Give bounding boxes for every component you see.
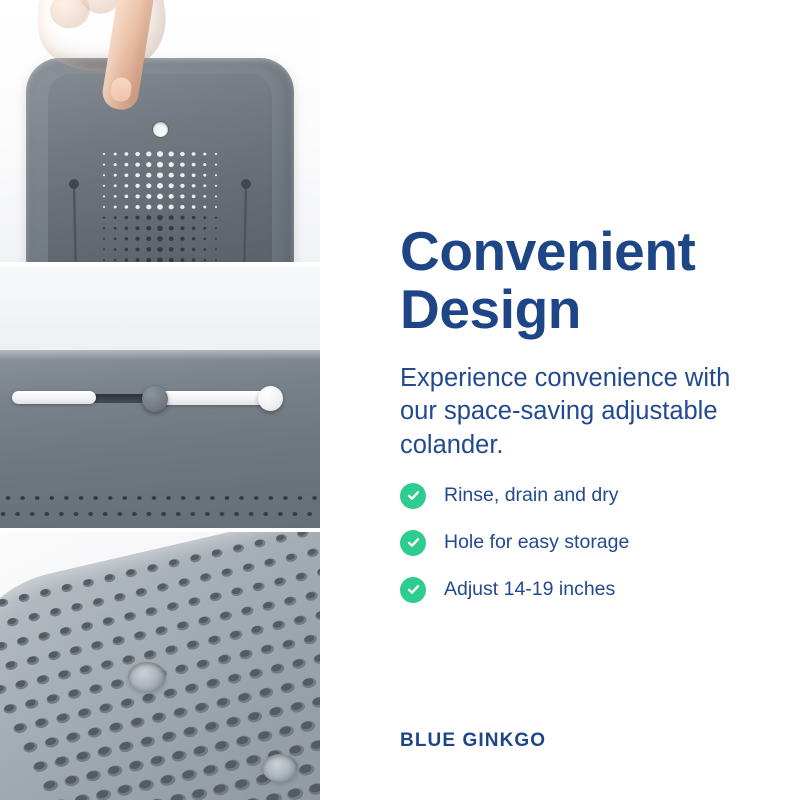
- photo-backdrop: [0, 266, 320, 350]
- content-column: ConvenientDesign Experience convenience …: [400, 0, 770, 800]
- colander-support-rods: [26, 58, 294, 262]
- colander-rim-highlight: [0, 350, 320, 360]
- subtitle-text: Experience convenience with our space-sa…: [400, 362, 748, 464]
- arm-segment-left: [12, 391, 96, 404]
- drain-hole-row: [0, 488, 320, 524]
- feature-label: Hole for easy storage: [444, 531, 629, 554]
- feature-label: Rinse, drain and dry: [444, 484, 619, 507]
- check-circle-icon: [400, 577, 426, 603]
- list-item: Adjust 14-19 inches: [400, 566, 760, 613]
- photo-hanging-hole: [0, 0, 320, 262]
- product-feature-card: ConvenientDesign Experience convenience …: [0, 0, 800, 800]
- arm-pivot: [142, 386, 168, 412]
- page-title: ConvenientDesign: [400, 223, 760, 339]
- list-item: Hole for easy storage: [400, 519, 760, 566]
- photo-adjustable-arm: [0, 266, 320, 528]
- feature-list: Rinse, drain and dry Hole for easy stora…: [400, 472, 760, 613]
- base-foot: [128, 662, 166, 692]
- headline-line-2: Design: [400, 278, 581, 340]
- brand-wordmark: BLUE GINKGO: [400, 730, 546, 752]
- fingernail: [109, 76, 133, 103]
- list-item: Rinse, drain and dry: [400, 472, 760, 519]
- photo-perforated-base: [0, 532, 320, 800]
- arm-end-knob: [258, 386, 283, 411]
- base-foot: [262, 754, 298, 782]
- feature-label: Adjust 14-19 inches: [444, 578, 615, 601]
- check-circle-icon: [400, 530, 426, 556]
- check-circle-icon: [400, 483, 426, 509]
- headline-line-1: Convenient: [400, 220, 695, 282]
- arm-segment-right: [158, 391, 268, 405]
- photo-column: [0, 0, 320, 800]
